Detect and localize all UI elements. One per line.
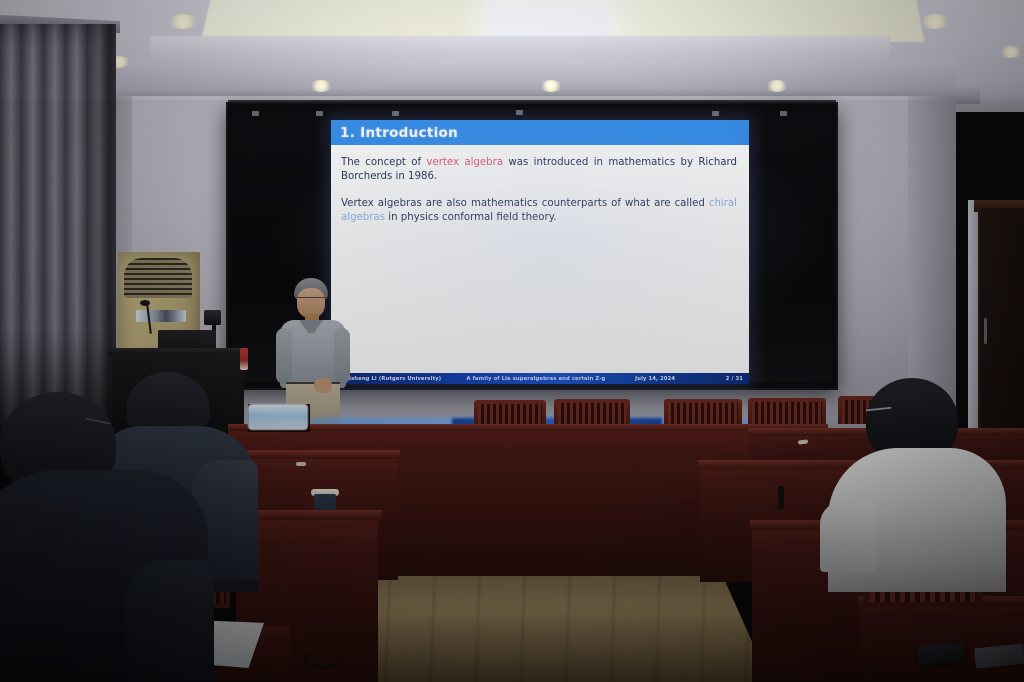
- ceiling-spotlight-icon: [540, 80, 562, 92]
- presenter-right-arm: [334, 328, 350, 384]
- chair-back[interactable]: [474, 400, 546, 426]
- door-handle[interactable]: [984, 318, 987, 344]
- plastic-bag: [248, 404, 308, 430]
- air-conditioner-control-panel[interactable]: [136, 310, 186, 322]
- floor-cable: [304, 650, 344, 668]
- audience-arm: [126, 560, 214, 682]
- screen-clip-icon: [516, 110, 523, 115]
- lecture-hall-scene: 1. Introduction The concept of vertex al…: [0, 0, 1024, 682]
- ceiling-soffit: [96, 58, 956, 92]
- slide-text-segment: in physics conformal field theory.: [385, 212, 557, 223]
- screen-clip-icon: [252, 111, 259, 116]
- screen-clip-icon: [712, 111, 719, 116]
- chair-slats: [558, 403, 626, 426]
- presenter-left-arm: [276, 328, 292, 384]
- slide-title-bar: 1. Introduction: [331, 120, 749, 145]
- slide-footer-bar: Haisheng Li (Rutgers University) A famil…: [331, 373, 749, 384]
- desk-near-right: [860, 600, 1024, 682]
- screen-clip-icon: [780, 111, 787, 116]
- chair-back[interactable]: [748, 398, 826, 426]
- ceiling-spotlight-icon: [168, 14, 198, 29]
- chair-slats: [752, 402, 822, 426]
- chair-slats: [668, 403, 738, 426]
- air-conditioner-grille-icon: [124, 258, 192, 298]
- eyeglasses-icon: [297, 297, 325, 303]
- ceiling-spotlight-icon: [1000, 46, 1022, 58]
- camera-body-icon: [204, 310, 221, 325]
- screen-clip-icon: [392, 111, 399, 116]
- slide-paragraph-2: Vertex algebras are also mathematics cou…: [341, 197, 737, 225]
- audience-arm: [820, 502, 878, 572]
- slide-paragraph-1: The concept of vertex algebra was introd…: [341, 156, 737, 184]
- projected-slide: 1. Introduction The concept of vertex al…: [331, 120, 749, 384]
- water-bottle: [240, 348, 248, 370]
- desk-hook-icon: [296, 462, 306, 466]
- ceiling-spotlight-icon: [920, 14, 950, 29]
- slide-footer-page-number: 2 / 31: [704, 376, 749, 382]
- slide-footer-talk-title: A family of Lie superalgebras and certai…: [467, 376, 636, 382]
- chair-slats: [478, 404, 542, 426]
- smartphone[interactable]: [917, 642, 965, 666]
- room-door[interactable]: [978, 208, 1024, 458]
- slide-footer-date: July 14, 2024: [635, 376, 704, 382]
- desk-row-far-top: [228, 424, 828, 431]
- ceiling-spotlight-icon: [766, 80, 788, 92]
- chair-back[interactable]: [554, 399, 630, 426]
- chair-back[interactable]: [664, 399, 742, 426]
- slide-title: 1. Introduction: [331, 125, 458, 141]
- ceiling-skylight-panel: [487, 0, 609, 38]
- microphone-head-icon: [140, 300, 150, 306]
- slide-text-segment: The concept of: [341, 157, 426, 168]
- slide-highlight-vertex-algebra: vertex algebra: [426, 157, 503, 168]
- desk-clip-icon: [778, 486, 784, 510]
- presenter-hands: [314, 378, 332, 393]
- screen-clip-icon: [316, 111, 323, 116]
- ceiling-spotlight-icon: [310, 80, 332, 92]
- slide-body: The concept of vertex algebra was introd…: [331, 148, 749, 358]
- slide-text-segment: Vertex algebras are also mathematics cou…: [341, 198, 709, 209]
